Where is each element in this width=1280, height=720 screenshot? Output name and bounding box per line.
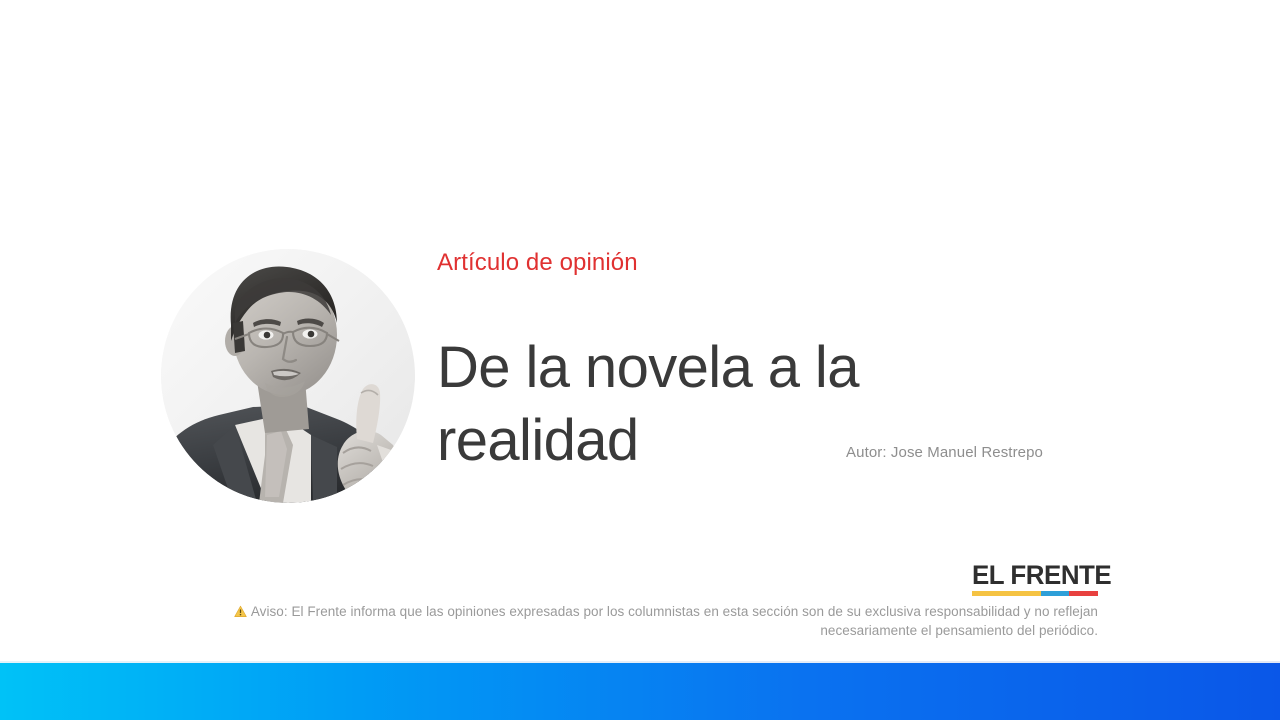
bottom-gradient-band [0, 663, 1280, 720]
portrait-image [161, 249, 415, 503]
logo-tricolor-bar [972, 591, 1098, 596]
logo-bar-blue-segment [1041, 591, 1069, 596]
logo-bar-red-segment [1069, 591, 1098, 596]
el-frente-logo: EL FRENTE [972, 562, 1100, 596]
warning-triangle-icon [234, 605, 247, 622]
article-kicker: Artículo de opinión [437, 249, 638, 277]
author-portrait [161, 249, 415, 503]
article-author: Autor: Jose Manuel Restrepo [437, 442, 1043, 463]
disclaimer-note: Aviso: El Frente informa que las opinion… [190, 603, 1098, 639]
logo-bar-yellow-segment [972, 591, 1041, 596]
disclaimer-text: Aviso: El Frente informa que las opinion… [251, 604, 1098, 638]
opinion-article-slide: Artículo de opinión De la novela a la re… [0, 0, 1280, 720]
logo-wordmark: EL FRENTE [972, 562, 1095, 588]
